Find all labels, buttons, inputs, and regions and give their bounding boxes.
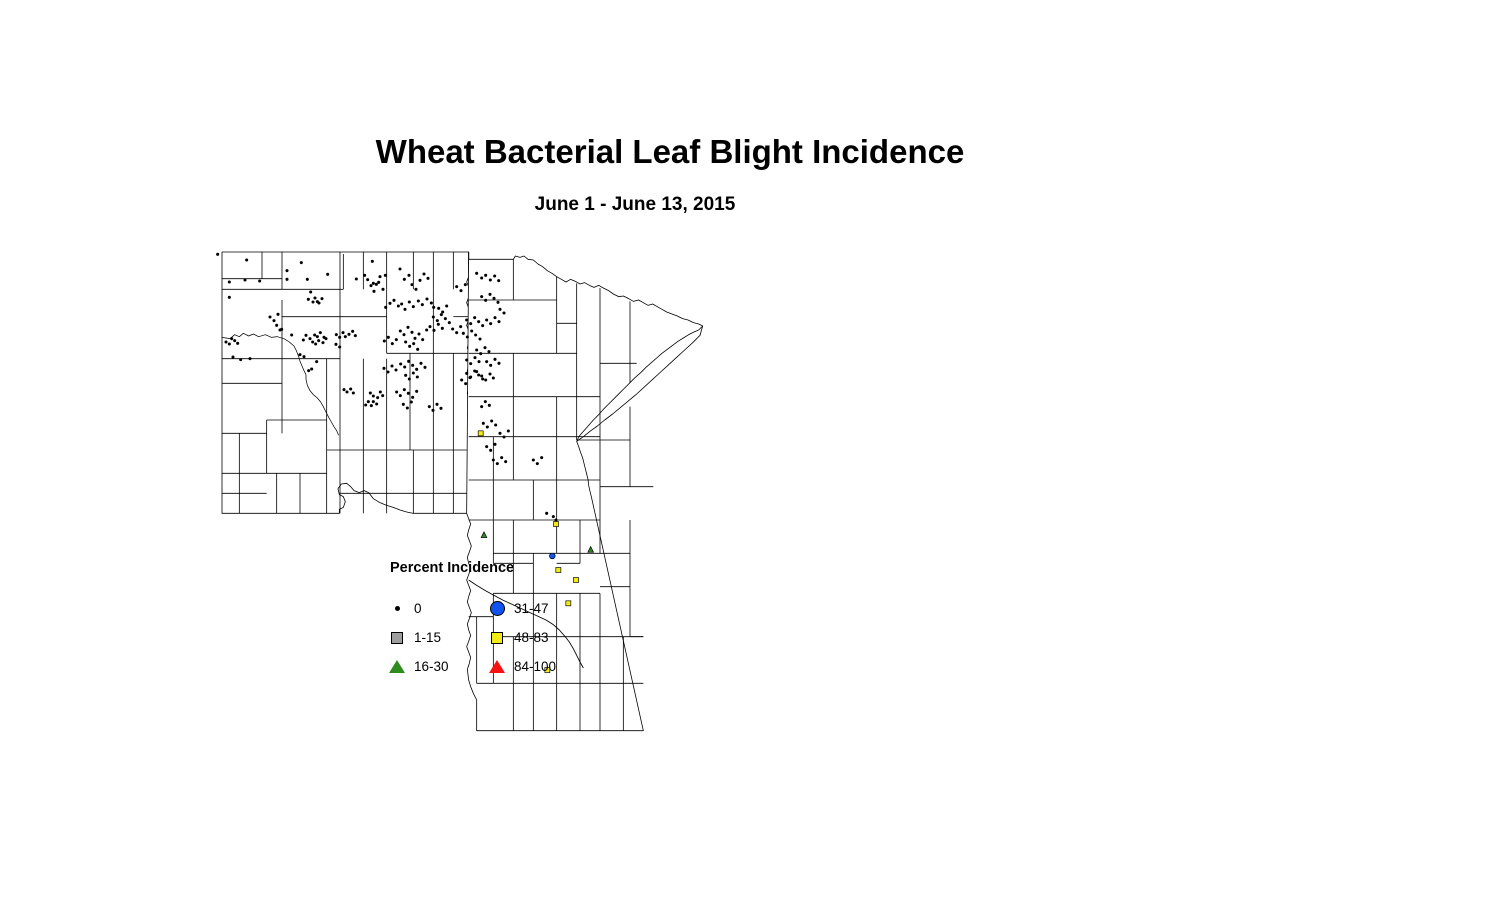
legend-item-1-15[interactable]: 1-15 <box>386 630 486 645</box>
sample-point-zero <box>400 302 403 305</box>
sample-point-zero <box>398 267 401 270</box>
sample-point-zero <box>372 290 375 293</box>
sample-point-zero <box>484 299 487 302</box>
sample-point-zero <box>488 404 491 407</box>
sample-point-zero <box>392 299 395 302</box>
sample-point-zero <box>441 310 444 313</box>
sample-point-zero <box>490 419 493 422</box>
sample-point-zero <box>416 348 419 351</box>
sample-point-zero <box>315 360 318 363</box>
sample-point-zero <box>341 331 344 334</box>
sample-point-zero <box>298 353 301 356</box>
sample-point-zero <box>545 512 548 515</box>
sample-point-zero <box>404 374 407 377</box>
sample-point-zero <box>554 518 557 521</box>
sample-point-zero <box>228 342 231 345</box>
sample-point-zero <box>425 297 428 300</box>
sample-point-zero <box>285 278 288 281</box>
sample-point-zero <box>290 333 293 336</box>
sample-point-zero <box>468 376 471 379</box>
legend-symbol-green-triangle-icon <box>386 660 408 673</box>
sample-point-zero <box>399 394 402 397</box>
sample-point-zero <box>379 390 382 393</box>
sample-point-zero <box>280 328 283 331</box>
sample-point-zero <box>492 376 495 379</box>
sample-point-zero <box>403 365 406 368</box>
sample-point-zero <box>304 334 307 337</box>
legend-row: 1-15 48-83 <box>386 623 586 652</box>
sample-point-zero <box>317 301 320 304</box>
sample-point-zero <box>317 339 320 342</box>
sample-point-zero <box>335 333 338 336</box>
sample-point-zero <box>451 327 454 330</box>
legend-item-0[interactable]: 0 <box>386 601 486 616</box>
sample-point-zero <box>469 362 472 365</box>
sample-point-zero <box>406 326 409 329</box>
sample-point-zero <box>384 306 387 309</box>
sample-point-zero <box>484 378 487 381</box>
sample-point-zero <box>272 319 275 322</box>
sample-point-zero <box>300 261 303 264</box>
sample-point-zero <box>338 345 341 348</box>
sample-point-zero <box>485 445 488 448</box>
sample-point-zero <box>411 364 414 367</box>
sample-point-zero <box>504 460 507 463</box>
sample-point-zero <box>481 377 484 380</box>
sample-point-zero <box>437 307 440 310</box>
sample-point-zero <box>239 358 242 361</box>
legend-symbol-red-triangle-icon <box>486 660 508 673</box>
sample-point-zero <box>403 388 406 391</box>
sample-point-zero <box>477 360 480 363</box>
sample-point-zero <box>502 435 505 438</box>
legend-symbol-small-dot-icon <box>386 606 408 611</box>
sample-point-zero <box>411 396 414 399</box>
sample-point-zero <box>375 283 378 286</box>
sample-point-zero <box>421 303 424 306</box>
sample-point-zero <box>388 302 391 305</box>
sample-point-zero <box>462 332 465 335</box>
sample-point-zero <box>345 390 348 393</box>
sample-point-zero <box>432 306 435 309</box>
sample-point-zero <box>483 346 486 349</box>
sample-point-zero <box>489 364 492 367</box>
sample-point-zero <box>498 432 501 435</box>
sample-point-zero <box>347 333 350 336</box>
sample-point-zero <box>432 315 435 318</box>
sample-point-zero <box>423 366 426 369</box>
sample-point-zero <box>364 403 367 406</box>
sample-point-zero <box>479 352 482 355</box>
sample-point-zero <box>369 284 372 287</box>
sample-point-zero <box>500 456 503 459</box>
sample-point-zero <box>410 400 413 403</box>
sample-point-zero <box>324 337 327 340</box>
sample-point-zero <box>489 449 492 452</box>
sample-point-zero <box>496 462 499 465</box>
sample-point-zero <box>408 300 411 303</box>
legend-symbol-yellow-square-icon <box>486 632 508 644</box>
incidence-marker-48-83[interactable] <box>478 431 483 436</box>
sample-point-zero <box>436 319 439 322</box>
sample-point-zero <box>412 371 415 374</box>
sample-point-zero <box>309 290 312 293</box>
sample-point-zero <box>502 311 505 314</box>
sample-point-zero <box>390 364 393 367</box>
sample-point-zero <box>497 320 500 323</box>
legend-item-16-30[interactable]: 16-30 <box>386 659 486 674</box>
sample-point-zero <box>425 328 428 331</box>
legend-item-84-100[interactable]: 84-100 <box>486 659 586 674</box>
legend-row: 16-30 84-100 <box>386 652 586 681</box>
sample-point-zero <box>224 340 227 343</box>
sample-point-zero <box>378 275 381 278</box>
sample-point-zero <box>342 388 345 391</box>
sample-point-zero <box>426 277 429 280</box>
sample-point-zero <box>465 358 468 361</box>
sample-point-zero <box>473 356 476 359</box>
sample-point-zero <box>370 404 373 407</box>
sample-point-zero <box>381 288 384 291</box>
sample-point-zero <box>268 315 271 318</box>
sample-point-zero <box>540 456 543 459</box>
sample-point-zero <box>395 338 398 341</box>
sample-point-zero <box>431 409 434 412</box>
sample-point-zero <box>415 368 418 371</box>
sample-point-zero <box>488 293 491 296</box>
sample-point-zero <box>306 278 309 281</box>
sample-point-zero <box>422 272 425 275</box>
sample-point-zero <box>416 375 419 378</box>
sample-point-zero <box>326 273 329 276</box>
sample-point-zero <box>407 360 410 363</box>
sample-point-zero <box>311 340 314 343</box>
legend-symbol-circle-icon <box>486 601 508 616</box>
sample-point-zero <box>302 338 305 341</box>
sample-point-zero <box>489 322 492 325</box>
sample-point-zero <box>387 336 390 339</box>
sample-point-zero <box>430 301 433 304</box>
sample-point-zero <box>275 324 278 327</box>
sample-point-zero <box>371 260 374 263</box>
sample-point-zero <box>233 339 236 342</box>
sample-point-zero <box>302 355 305 358</box>
legend-label-48-83: 48-83 <box>514 630 549 645</box>
sample-point-zero <box>344 335 347 338</box>
sample-point-zero <box>485 318 488 321</box>
sample-point-zero <box>482 422 485 425</box>
sample-point-zero <box>404 340 407 343</box>
sample-point-zero <box>402 333 405 336</box>
sample-point-zero <box>489 278 492 281</box>
sample-point-zero <box>484 274 487 277</box>
sample-point-zero <box>417 299 420 302</box>
sample-point-zero <box>410 331 413 334</box>
sample-point-zero <box>248 357 251 360</box>
sample-point-zero <box>319 331 322 334</box>
sample-point-zero <box>480 405 483 408</box>
sample-point-zero <box>410 283 413 286</box>
legend-items: 0 31-47 1-15 <box>386 594 586 681</box>
sample-point-zero <box>481 324 484 327</box>
sample-point-zero <box>258 279 261 282</box>
sample-point-zero <box>493 443 496 446</box>
sample-point-zero <box>412 305 415 308</box>
sample-point-zero <box>363 274 366 277</box>
sample-point-zero <box>493 358 496 361</box>
sample-point-zero <box>414 288 417 291</box>
sample-point-zero <box>475 272 478 275</box>
incidence-marker-48-83[interactable] <box>554 522 559 527</box>
sample-point-zero <box>399 329 402 332</box>
legend-item-31-47[interactable]: 31-47 <box>486 601 586 616</box>
sample-point-zero <box>415 390 418 393</box>
sample-point-zero <box>366 278 369 281</box>
sample-point-zero <box>435 403 438 406</box>
legend-row: 0 31-47 <box>386 594 586 623</box>
sample-point-zero <box>313 333 316 336</box>
map-figure-page: Wheat Bacterial Leaf Blight Incidence Ju… <box>0 0 1503 900</box>
sample-point-zero <box>475 370 478 373</box>
sample-point-zero <box>498 308 501 311</box>
sample-point-zero <box>407 274 410 277</box>
sample-point-zero <box>377 281 380 284</box>
sample-point-zero <box>243 278 246 281</box>
map-canvas[interactable] <box>200 220 1100 740</box>
sample-point-zero <box>381 394 384 397</box>
sample-point-zero <box>372 282 375 285</box>
sample-point-zero <box>488 372 491 375</box>
sample-point-zero <box>444 317 447 320</box>
sample-point-zero <box>397 304 400 307</box>
sample-point-zero <box>375 402 378 405</box>
incidence-marker-31-47[interactable] <box>550 553 556 559</box>
sample-point-zero <box>408 377 411 380</box>
sample-point-zero <box>485 360 488 363</box>
sample-point-zero <box>477 320 480 323</box>
legend-label-1-15: 1-15 <box>414 630 441 645</box>
sample-point-zero <box>480 374 483 377</box>
sample-point-zero <box>307 298 310 301</box>
sample-point-zero <box>413 337 416 340</box>
legend-label-16-30: 16-30 <box>414 659 449 674</box>
sample-point-zero <box>236 342 239 345</box>
sample-point-zero <box>383 339 386 342</box>
sample-point-zero <box>432 329 435 332</box>
sample-point-zero <box>497 362 500 365</box>
legend-symbol-grey-square-icon <box>386 632 408 644</box>
sample-point-zero <box>496 301 499 304</box>
sample-point-zero <box>245 258 248 261</box>
sample-point-zero <box>480 295 483 298</box>
sample-point-zero <box>459 289 462 292</box>
sample-point-zero <box>507 429 510 432</box>
sample-point-zero <box>470 329 473 332</box>
sample-point-zero <box>445 304 448 307</box>
sample-point-zero <box>399 362 402 365</box>
sample-point-zero <box>552 515 555 518</box>
sample-point-zero <box>311 300 314 303</box>
sample-point-zero <box>492 458 495 461</box>
sample-point-zero <box>428 325 431 328</box>
sample-point-zero <box>352 391 355 394</box>
sample-point-zero <box>355 277 358 280</box>
sample-point-zero <box>439 407 442 410</box>
sample-point-zero <box>428 405 431 408</box>
sample-point-zero <box>391 342 394 345</box>
sample-point-zero <box>455 285 458 288</box>
sample-point-zero <box>351 330 354 333</box>
sample-point-zero <box>465 372 468 375</box>
sample-point-zero <box>372 394 375 397</box>
sample-point-zero <box>477 373 480 376</box>
sample-point-zero <box>478 337 481 340</box>
legend-title: Percent Incidence <box>390 560 586 576</box>
sample-point-zero <box>474 333 477 336</box>
sample-point-zero <box>403 278 406 281</box>
sample-point-zero <box>369 391 372 394</box>
sample-point-zero <box>308 337 311 340</box>
sample-point-zero <box>386 370 389 373</box>
sample-point-zero <box>441 327 444 330</box>
sample-point-zero <box>407 392 410 395</box>
sample-point-zero <box>338 336 341 339</box>
sample-point-zero <box>367 400 370 403</box>
sample-point-zero <box>440 313 443 316</box>
sample-point-zero <box>419 362 422 365</box>
sample-point-zero <box>321 341 324 344</box>
page-title: Wheat Bacterial Leaf Blight Incidence <box>0 133 1340 171</box>
sample-point-zero <box>231 355 234 358</box>
sample-point-zero <box>382 367 385 370</box>
sample-point-zero <box>313 296 316 299</box>
choropleth-point-map[interactable] <box>200 220 1100 740</box>
sample-point-zero <box>408 345 411 348</box>
sample-point-zero <box>497 279 500 282</box>
sample-point-zero <box>354 334 357 337</box>
sample-point-zero <box>466 335 469 338</box>
sample-point-zero <box>493 316 496 319</box>
legend-label-31-47: 31-47 <box>514 601 549 616</box>
sample-point-zero <box>480 276 483 279</box>
sample-point-zero <box>320 297 323 300</box>
legend-item-48-83[interactable]: 48-83 <box>486 630 586 645</box>
sample-point-zero <box>448 321 451 324</box>
sample-point-zero <box>465 318 468 321</box>
sample-point-zero <box>310 367 313 370</box>
sample-point-zero <box>307 369 310 372</box>
sample-point-zero <box>469 322 472 325</box>
sample-point-zero <box>395 390 398 393</box>
sample-point-zero <box>402 403 405 406</box>
sample-point-zero <box>276 313 279 316</box>
sample-point-zero <box>492 297 495 300</box>
sample-point-zero <box>418 279 421 282</box>
sample-point-zero <box>334 343 337 346</box>
sample-point-zero <box>316 335 319 338</box>
sample-point-zero <box>417 332 420 335</box>
sample-point-zero <box>384 274 387 277</box>
sample-point-zero <box>216 253 219 256</box>
sample-point-zero <box>437 323 440 326</box>
sample-point-zero <box>493 274 496 277</box>
sample-point-zero <box>475 348 478 351</box>
sample-point-zero <box>486 425 489 428</box>
sample-point-zero <box>372 400 375 403</box>
sample-point-zero <box>460 378 463 381</box>
date-range-subtitle: June 1 - June 13, 2015 <box>0 194 1270 216</box>
legend-label-84-100: 84-100 <box>514 659 556 674</box>
sample-point-zero <box>230 337 233 340</box>
sample-point-zero <box>314 342 317 345</box>
sample-point-zero <box>406 406 409 409</box>
sample-point-zero <box>532 458 535 461</box>
legend: Percent Incidence 0 31-47 <box>386 560 586 670</box>
sample-point-zero <box>349 387 352 390</box>
sample-point-zero <box>376 396 379 399</box>
sample-point-zero <box>421 338 424 341</box>
sample-point-zero <box>228 280 231 283</box>
sample-point-zero <box>536 462 539 465</box>
sample-point-zero <box>403 308 406 311</box>
sample-point-zero <box>455 331 458 334</box>
sample-point-zero <box>484 400 487 403</box>
legend-label-0: 0 <box>414 601 422 616</box>
sample-point-zero <box>464 283 467 286</box>
sample-point-zero <box>494 423 497 426</box>
sample-point-zero <box>487 350 490 353</box>
sample-point-zero <box>394 368 397 371</box>
sample-point-zero <box>228 296 231 299</box>
sample-point-zero <box>459 325 462 328</box>
sample-point-zero <box>285 269 288 272</box>
sample-point-zero <box>464 382 467 385</box>
sample-point-zero <box>473 316 476 319</box>
sample-point-zero <box>412 342 415 345</box>
